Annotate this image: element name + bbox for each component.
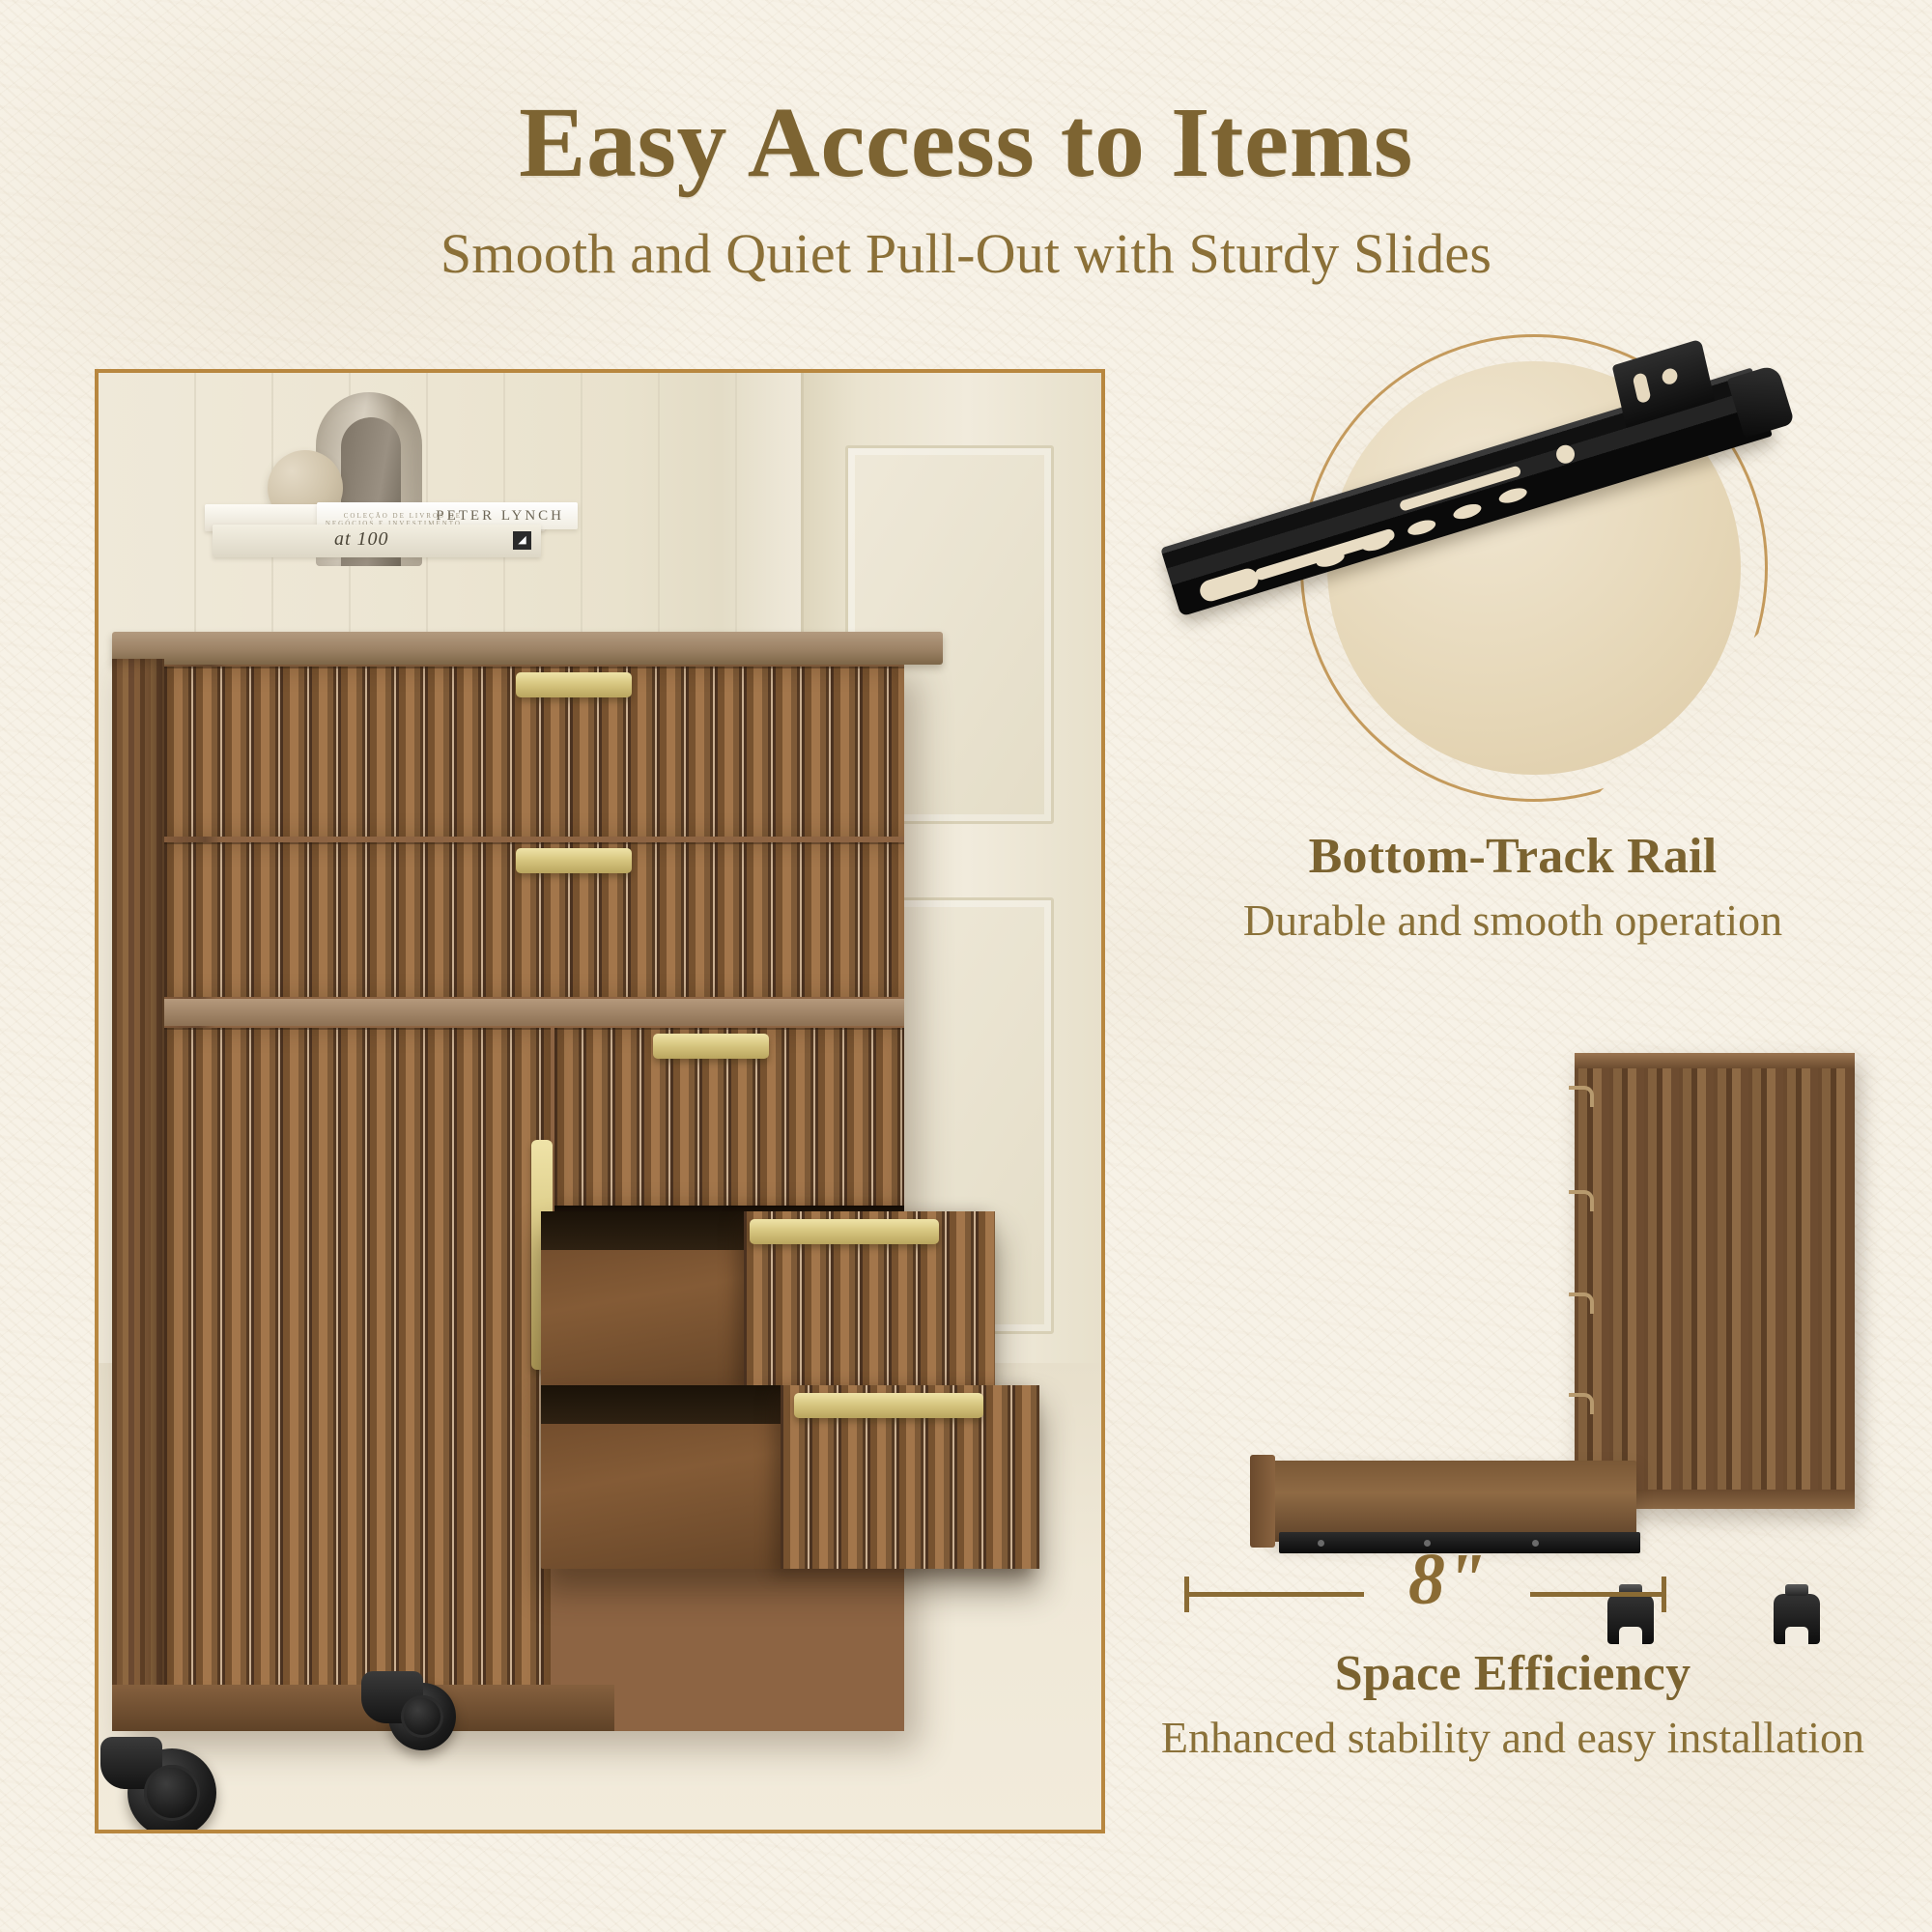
open-drawer-upper-handle[interactable] xyxy=(750,1219,939,1244)
drawer-handle-1[interactable] xyxy=(516,672,632,697)
dimension-line-left xyxy=(1184,1592,1364,1597)
side-rail-hook-3 xyxy=(1569,1293,1594,1314)
rail-bracket-hole xyxy=(1661,367,1679,386)
rail-hole-3 xyxy=(1406,517,1436,537)
side-view-cabinet-icon xyxy=(1575,1053,1855,1509)
headline-block: Easy Access to Items Smooth and Quiet Pu… xyxy=(0,0,1932,282)
drawer-handle-3[interactable] xyxy=(653,1034,769,1059)
dimension-value-label: 8" xyxy=(1379,1538,1515,1622)
feature-space-efficiency: Space Efficiency Enhanced stability and … xyxy=(1155,1648,1870,1762)
dimension-cap-right xyxy=(1662,1577,1666,1612)
decor-book-at-100: at 100 ◢ xyxy=(213,525,541,557)
rail-hole-4 xyxy=(1452,501,1483,522)
dimension-line-right xyxy=(1530,1592,1665,1597)
hero-photo: COLEÇÃO DE LIVROS DE NEGÓCIOS E INVESTIM… xyxy=(99,373,1101,1830)
page-subtitle: Smooth and Quiet Pull-Out with Sturdy Sl… xyxy=(0,193,1932,282)
feature-bottom-track-rail: Bottom-Track Rail Durable and smooth ope… xyxy=(1155,831,1870,945)
caster-wheel-hub xyxy=(144,1765,200,1821)
rail-round-hole xyxy=(1554,442,1577,466)
rail-upper-slot xyxy=(1399,465,1522,512)
drawer-handle-2[interactable] xyxy=(516,848,632,873)
caster-wheel-rear xyxy=(388,1683,456,1750)
cabinet-door-front[interactable] xyxy=(164,1028,551,1704)
feature-desc-bottom-track-rail: Durable and smooth operation xyxy=(1155,895,1870,946)
file-cabinet-body xyxy=(112,659,904,1731)
side-rail-hook-2 xyxy=(1569,1190,1594,1211)
side-rail-hook-1 xyxy=(1569,1086,1594,1107)
book-title-at-100: at 100 xyxy=(334,528,389,551)
extended-drawer-front-edge xyxy=(1250,1455,1275,1548)
cabinet-divider-rail xyxy=(164,999,904,1026)
space-efficiency-illustration xyxy=(1155,1053,1872,1604)
feature-desc-space-efficiency: Enhanced stability and easy installation xyxy=(1155,1713,1870,1763)
rail-end-tip xyxy=(1727,364,1795,439)
feature-title-space-efficiency: Space Efficiency xyxy=(1155,1648,1870,1701)
dimension-callout: 8" xyxy=(1155,1542,1872,1634)
open-drawer-lower-handle[interactable] xyxy=(794,1393,983,1418)
rail-hole-5 xyxy=(1497,485,1528,505)
book-title-text: PETER LYNCH xyxy=(436,508,564,525)
caster-wheel-front xyxy=(128,1748,216,1830)
feature-title-bottom-track-rail: Bottom-Track Rail xyxy=(1155,831,1870,884)
cabinet-top-surface xyxy=(112,632,943,665)
extended-drawer-box xyxy=(1271,1461,1636,1542)
rail-mounting-bracket xyxy=(1612,339,1716,429)
rail-bracket-slot xyxy=(1632,372,1651,404)
book-publisher-logo: ◢ xyxy=(513,531,531,550)
rail-keyhole-slot xyxy=(1197,566,1261,604)
hero-photo-frame: COLEÇÃO DE LIVROS DE NEGÓCIOS E INVESTIM… xyxy=(95,369,1105,1833)
bottom-track-rail-illustration xyxy=(1155,371,1872,825)
caster-wheel-hub-rear xyxy=(401,1695,443,1738)
page-title: Easy Access to Items xyxy=(0,0,1932,193)
side-rail-hook-4 xyxy=(1569,1393,1594,1414)
cabinet-left-side-panel xyxy=(112,659,164,1731)
